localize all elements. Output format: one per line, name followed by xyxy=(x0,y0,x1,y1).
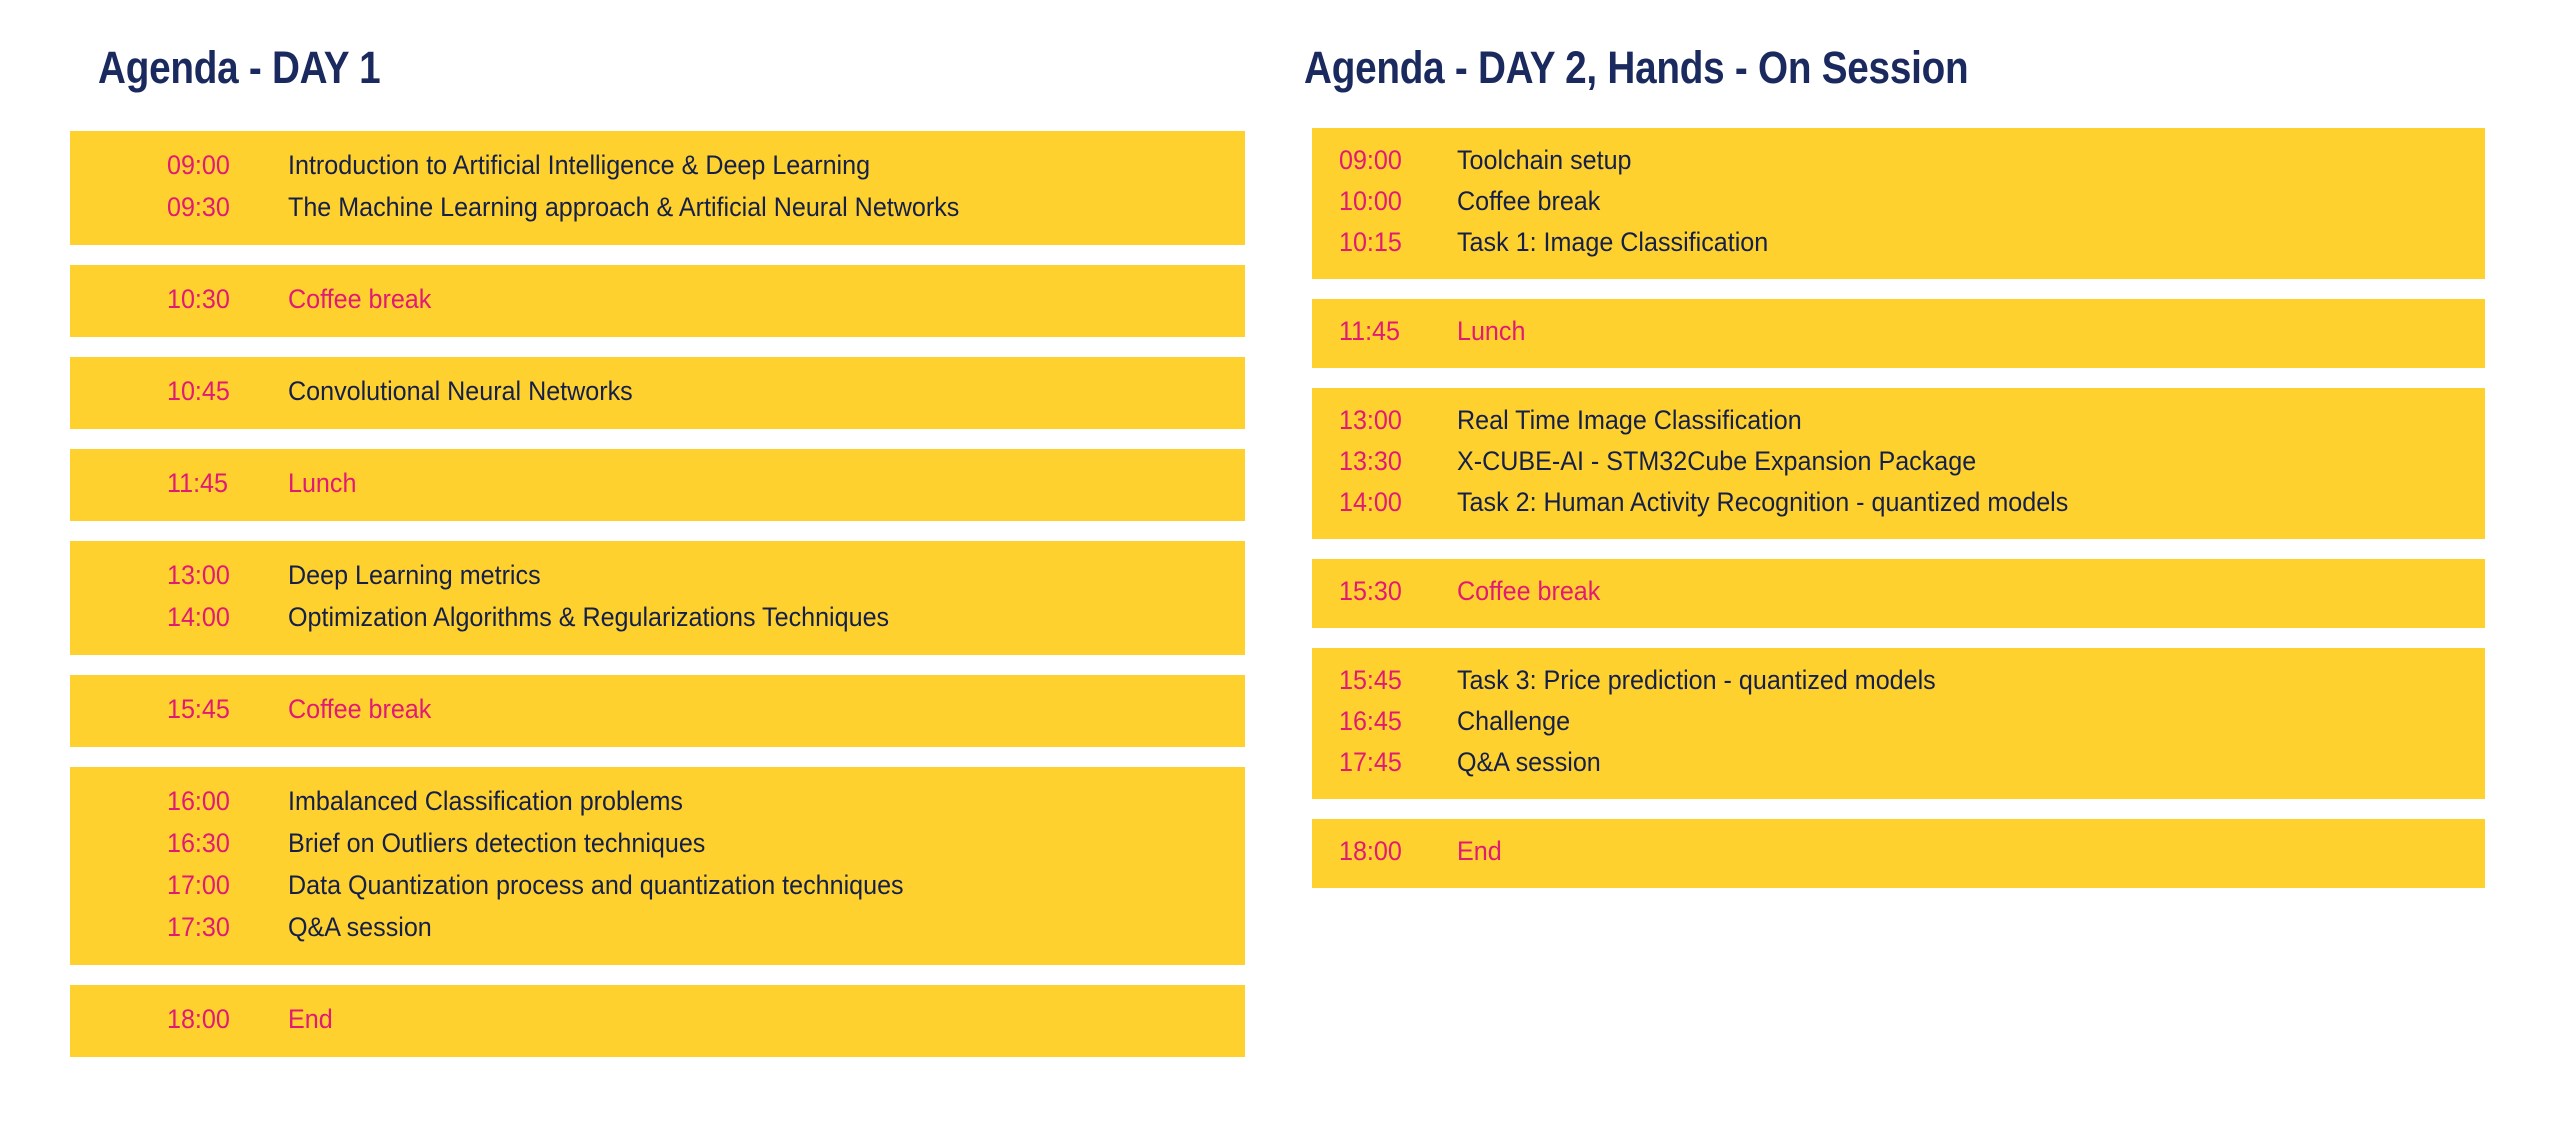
agenda-row-time: 09:00 xyxy=(1339,147,1437,174)
agenda-row-label: Coffee break xyxy=(288,696,1178,723)
agenda-row-time: 17:45 xyxy=(1339,749,1437,776)
agenda-row-label: Q&A session xyxy=(288,914,1178,941)
agenda-column-day1: Agenda - DAY 1 09:00Introduction to Arti… xyxy=(115,0,1290,90)
agenda-row: 10:15Task 1: Image Classification xyxy=(1312,223,2485,264)
agenda-row-time: 16:00 xyxy=(167,788,265,815)
agenda-slide: Agenda - DAY 1 09:00Introduction to Arti… xyxy=(0,0,2560,1128)
agenda-row: 17:00Data Quantization process and quant… xyxy=(70,865,1245,907)
agenda-row-label: Optimization Algorithms & Regularization… xyxy=(288,604,1178,631)
agenda-row: 13:00Deep Learning metrics xyxy=(70,555,1245,597)
agenda-row-time: 16:45 xyxy=(1339,708,1437,735)
agenda-row: 15:45Coffee break xyxy=(70,689,1245,731)
page-title-day2: Agenda - DAY 2, Hands - On Session xyxy=(1304,0,2320,90)
agenda-row-time: 18:00 xyxy=(1339,838,1437,865)
agenda-row-label: Toolchain setup xyxy=(1457,147,2413,174)
agenda-block: 18:00End xyxy=(1312,819,2485,888)
agenda-row-time: 14:00 xyxy=(167,604,265,631)
agenda-row-time: 10:45 xyxy=(167,378,265,405)
agenda-row-time: 15:45 xyxy=(1339,667,1437,694)
agenda-row: 18:00End xyxy=(1312,832,2485,873)
agenda-row-label: Brief on Outliers detection techniques xyxy=(288,830,1178,857)
agenda-block: 16:00Imbalanced Classification problems1… xyxy=(70,767,1245,965)
agenda-row-time: 13:00 xyxy=(1339,407,1437,434)
agenda-row-time: 18:00 xyxy=(167,1006,265,1033)
agenda-row: 15:45Task 3: Price prediction - quantize… xyxy=(1312,661,2485,702)
agenda-row-label: Lunch xyxy=(1457,318,2413,345)
agenda-block: 15:45Task 3: Price prediction - quantize… xyxy=(1312,648,2485,799)
agenda-row: 16:00Imbalanced Classification problems xyxy=(70,781,1245,823)
agenda-row-time: 11:45 xyxy=(167,470,265,497)
agenda-row-label: Coffee break xyxy=(1457,188,2413,215)
agenda-block-list-day2: 09:00Toolchain setup10:00Coffee break10:… xyxy=(1312,128,2485,908)
agenda-block-list-day1: 09:00Introduction to Artificial Intellig… xyxy=(70,131,1245,1077)
agenda-block: 13:00Deep Learning metrics14:00Optimizat… xyxy=(70,541,1245,655)
agenda-row-label: Challenge xyxy=(1457,708,2413,735)
agenda-row: 13:30X-CUBE-AI - STM32Cube Expansion Pac… xyxy=(1312,442,2485,483)
agenda-row: 14:00Optimization Algorithms & Regulariz… xyxy=(70,597,1245,639)
agenda-row-time: 09:00 xyxy=(167,152,265,179)
agenda-row-label: X-CUBE-AI - STM32Cube Expansion Package xyxy=(1457,448,2413,475)
agenda-row-time: 10:00 xyxy=(1339,188,1437,215)
agenda-row-label: The Machine Learning approach & Artifici… xyxy=(288,194,1178,221)
agenda-row: 16:30Brief on Outliers detection techniq… xyxy=(70,823,1245,865)
agenda-row: 16:45Challenge xyxy=(1312,702,2485,743)
agenda-row-label: Deep Learning metrics xyxy=(288,562,1178,589)
agenda-row-time: 10:30 xyxy=(167,286,265,313)
agenda-block: 13:00Real Time Image Classification13:30… xyxy=(1312,388,2485,539)
agenda-row: 10:30Coffee break xyxy=(70,279,1245,321)
agenda-row: 14:00Task 2: Human Activity Recognition … xyxy=(1312,483,2485,524)
agenda-row: 18:00End xyxy=(70,999,1245,1041)
agenda-row-time: 09:30 xyxy=(167,194,265,221)
agenda-block: 09:00Toolchain setup10:00Coffee break10:… xyxy=(1312,128,2485,279)
agenda-row-time: 16:30 xyxy=(167,830,265,857)
agenda-row-label: Coffee break xyxy=(1457,578,2413,605)
page-title-day1: Agenda - DAY 1 xyxy=(98,0,1123,90)
agenda-row: 09:00Introduction to Artificial Intellig… xyxy=(70,145,1245,187)
agenda-row-label: End xyxy=(1457,838,2413,865)
agenda-row: 11:45Lunch xyxy=(1312,312,2485,353)
agenda-row-time: 10:15 xyxy=(1339,229,1437,256)
agenda-row-label: Task 1: Image Classification xyxy=(1457,229,2413,256)
agenda-row: 09:30The Machine Learning approach & Art… xyxy=(70,187,1245,229)
agenda-row: 10:00Coffee break xyxy=(1312,182,2485,223)
agenda-row-label: Task 3: Price prediction - quantized mod… xyxy=(1457,667,2413,694)
agenda-row-time: 13:00 xyxy=(167,562,265,589)
agenda-row-time: 15:30 xyxy=(1339,578,1437,605)
agenda-row-label: Data Quantization process and quantizati… xyxy=(288,872,1178,899)
agenda-row-time: 11:45 xyxy=(1339,318,1437,345)
agenda-block: 15:45Coffee break xyxy=(70,675,1245,747)
agenda-block: 10:45Convolutional Neural Networks xyxy=(70,357,1245,429)
agenda-block: 11:45Lunch xyxy=(1312,299,2485,368)
agenda-row-time: 17:30 xyxy=(167,914,265,941)
agenda-block: 09:00Introduction to Artificial Intellig… xyxy=(70,131,1245,245)
agenda-row: 11:45Lunch xyxy=(70,463,1245,505)
agenda-row: 17:45Q&A session xyxy=(1312,743,2485,784)
agenda-column-day2: Agenda - DAY 2, Hands - On Session 09:00… xyxy=(1312,0,2485,90)
agenda-row-label: Q&A session xyxy=(1457,749,2413,776)
agenda-row-label: Imbalanced Classification problems xyxy=(288,788,1178,815)
agenda-row: 15:30Coffee break xyxy=(1312,572,2485,613)
agenda-block: 10:30Coffee break xyxy=(70,265,1245,337)
agenda-row-label: Task 2: Human Activity Recognition - qua… xyxy=(1457,489,2413,516)
agenda-row: 13:00Real Time Image Classification xyxy=(1312,401,2485,442)
agenda-row-label: Coffee break xyxy=(288,286,1178,313)
agenda-block: 18:00End xyxy=(70,985,1245,1057)
agenda-row: 17:30Q&A session xyxy=(70,907,1245,949)
agenda-row: 10:45Convolutional Neural Networks xyxy=(70,371,1245,413)
agenda-row-label: End xyxy=(288,1006,1178,1033)
agenda-row-time: 17:00 xyxy=(167,872,265,899)
agenda-block: 15:30Coffee break xyxy=(1312,559,2485,628)
agenda-row-time: 15:45 xyxy=(167,696,265,723)
agenda-block: 11:45Lunch xyxy=(70,449,1245,521)
agenda-row-time: 14:00 xyxy=(1339,489,1437,516)
agenda-row-label: Real Time Image Classification xyxy=(1457,407,2413,434)
agenda-row-label: Introduction to Artificial Intelligence … xyxy=(288,152,1178,179)
agenda-row-label: Lunch xyxy=(288,470,1178,497)
agenda-row: 09:00Toolchain setup xyxy=(1312,141,2485,182)
agenda-row-label: Convolutional Neural Networks xyxy=(288,378,1178,405)
agenda-row-time: 13:30 xyxy=(1339,448,1437,475)
